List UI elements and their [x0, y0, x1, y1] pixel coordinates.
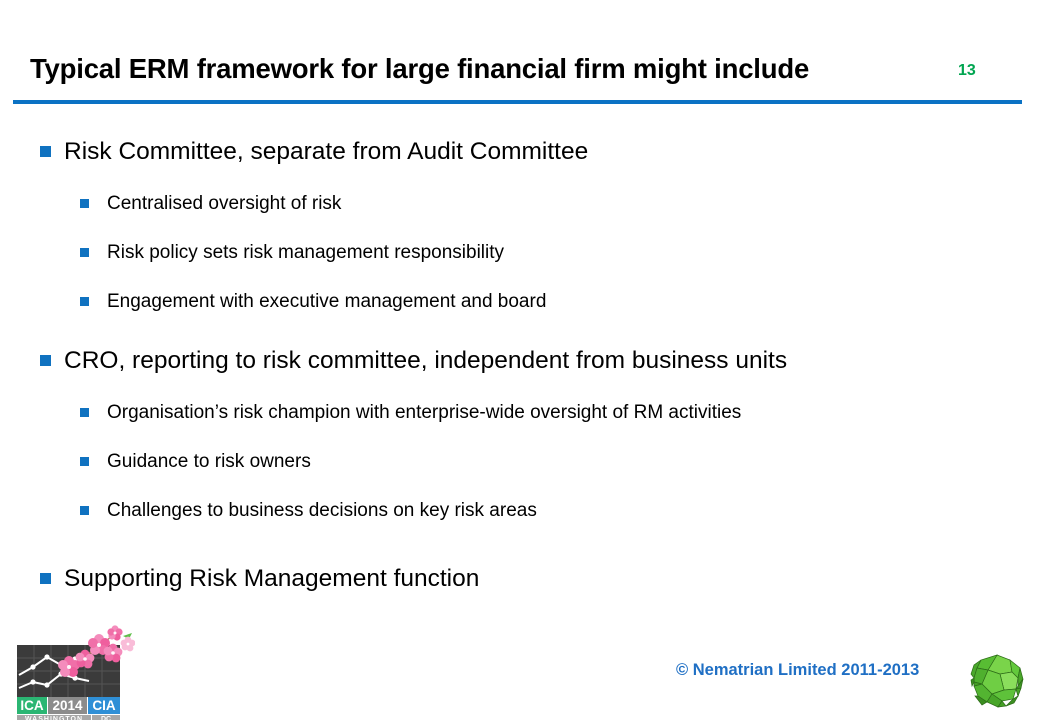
bullet-square-icon [80, 506, 89, 515]
logo-text-year: 2014 [48, 697, 87, 714]
title-divider [13, 100, 1022, 104]
logo-text-city: WASHINGTON [17, 715, 91, 720]
list-item-label: CRO, reporting to risk committee, indepe… [0, 337, 1040, 384]
copyright-notice: © Nematrian Limited 2011-2013 [676, 660, 919, 680]
logo-wordmark: ICA 2014 CIA WASHINGTON DC [17, 697, 120, 720]
list-item-label: Challenges to business decisions on key … [0, 489, 1040, 533]
bullet-square-icon [80, 248, 89, 257]
bullet-square-icon [80, 297, 89, 306]
ica-congress-logo: ICA 2014 CIA WASHINGTON DC [17, 625, 135, 713]
slide-header: Typical ERM framework for large financia… [0, 52, 1040, 98]
logo-text-dc: DC [92, 715, 120, 720]
list-item-label: Engagement with executive management and… [0, 280, 1040, 324]
bullet-square-icon [80, 408, 89, 417]
list-item-label: Supporting Risk Management function [0, 555, 1040, 602]
list-item: CRO, reporting to risk committee, indepe… [0, 337, 1040, 391]
bullet-square-icon [40, 146, 51, 157]
list-item: Risk policy sets risk management respons… [0, 231, 1040, 280]
bullet-square-icon [40, 573, 51, 584]
slide-number: 13 [958, 61, 976, 81]
slide-canvas: Typical ERM framework for large financia… [0, 0, 1040, 720]
list-item: Challenges to business decisions on key … [0, 489, 1040, 538]
bullet-list: Risk Committee, separate from Audit Comm… [0, 128, 1040, 609]
list-item: Organisation’s risk champion with enterp… [0, 391, 1040, 440]
line-chart-icon [17, 645, 120, 697]
nematrian-polyhedron-logo [968, 652, 1026, 710]
list-item: Guidance to risk owners [0, 440, 1040, 489]
bullet-square-icon [80, 457, 89, 466]
list-item-label: Organisation’s risk champion with enterp… [0, 391, 1040, 435]
list-item-label: Centralised oversight of risk [0, 182, 1040, 226]
logo-text-ica: ICA [17, 697, 47, 714]
list-item: Supporting Risk Management function [0, 555, 1040, 609]
list-item: Risk Committee, separate from Audit Comm… [0, 128, 1040, 182]
list-item-label: Risk Committee, separate from Audit Comm… [0, 128, 1040, 175]
bullet-square-icon [40, 355, 51, 366]
logo-text-cia: CIA [88, 697, 120, 714]
page-title: Typical ERM framework for large financia… [30, 52, 809, 86]
logo-chart-panel [17, 645, 120, 697]
bullet-square-icon [80, 199, 89, 208]
list-item-label: Guidance to risk owners [0, 440, 1040, 484]
list-item-label: Risk policy sets risk management respons… [0, 231, 1040, 275]
list-item: Centralised oversight of risk [0, 182, 1040, 231]
list-item: Engagement with executive management and… [0, 280, 1040, 329]
